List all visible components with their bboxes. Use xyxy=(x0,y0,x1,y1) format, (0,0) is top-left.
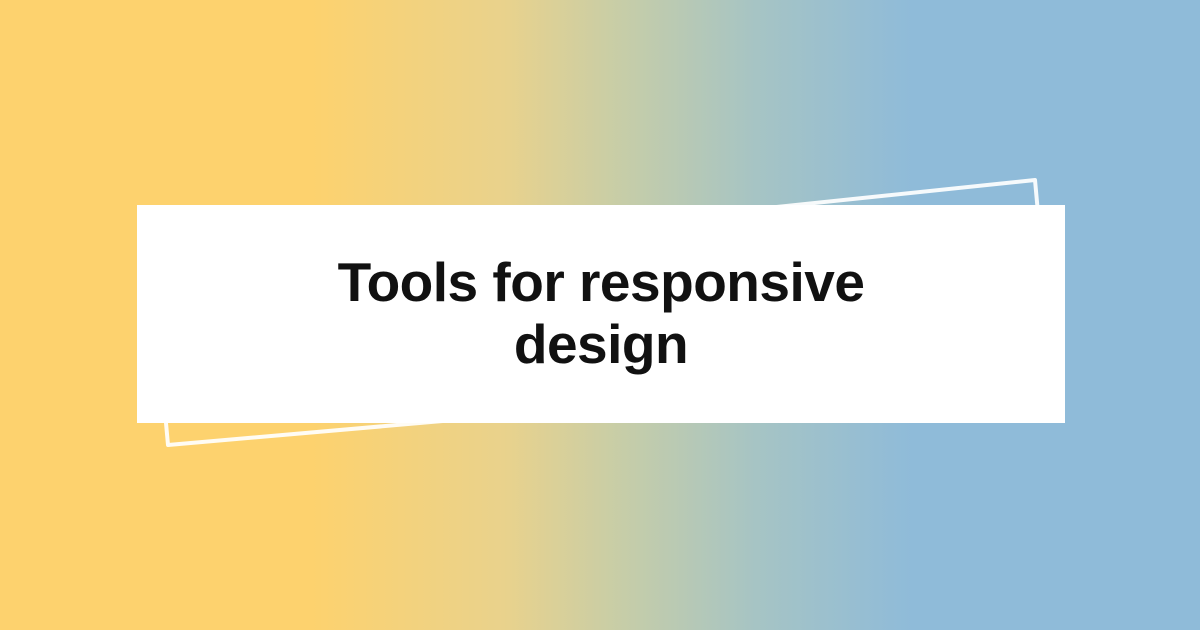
banner-canvas: Tools for responsive design xyxy=(0,0,1200,630)
title-card-content: Tools for responsive design xyxy=(137,205,1065,423)
page-title: Tools for responsive design xyxy=(331,252,871,375)
title-card: Tools for responsive design xyxy=(137,205,1065,423)
